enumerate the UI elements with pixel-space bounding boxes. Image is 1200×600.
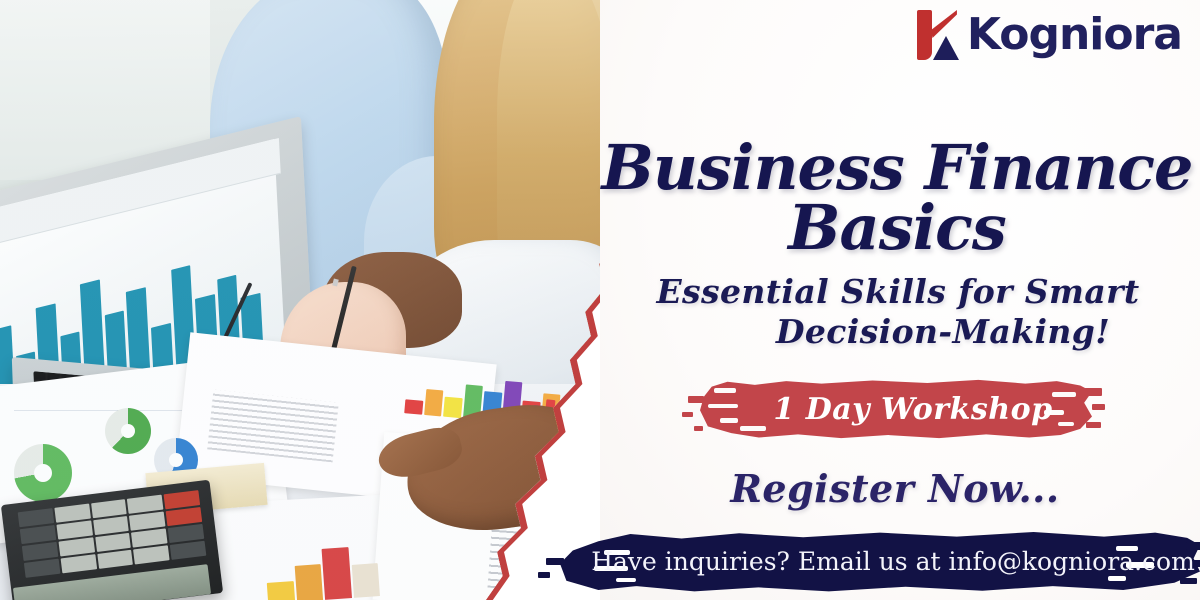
contact-footer-text[interactable]: Have inquiries? Email us at info@kognior… bbox=[560, 528, 1200, 594]
brand-logo[interactable]: Kogniora bbox=[915, 8, 1182, 62]
subtitle-line-2: Decision-Making! bbox=[610, 312, 1186, 352]
event-flyer: Kogniora Business Finance Basics Essenti… bbox=[0, 0, 1200, 600]
office-scene bbox=[0, 0, 700, 600]
contact-footer-banner: Have inquiries? Email us at info@kognior… bbox=[560, 528, 1200, 594]
event-subtitle: Essential Skills for Smart Decision-Maki… bbox=[610, 272, 1186, 353]
content-panel: Kogniora Business Finance Basics Essenti… bbox=[600, 0, 1200, 600]
kogniora-k-logo-icon bbox=[915, 8, 965, 62]
page-title: Business Finance Basics bbox=[600, 138, 1194, 260]
workshop-format-badge: 1 Day Workshop bbox=[700, 378, 1092, 440]
register-cta[interactable]: Register Now... bbox=[600, 466, 1190, 511]
photo-tint-overlay bbox=[0, 0, 700, 600]
brand-name: Kogniora bbox=[967, 13, 1182, 57]
workshop-format-label: 1 Day Workshop bbox=[700, 378, 1092, 440]
title-line-2: Basics bbox=[600, 198, 1194, 259]
subtitle-line-1: Essential Skills for Smart bbox=[656, 272, 1139, 311]
hero-photo bbox=[0, 0, 700, 600]
